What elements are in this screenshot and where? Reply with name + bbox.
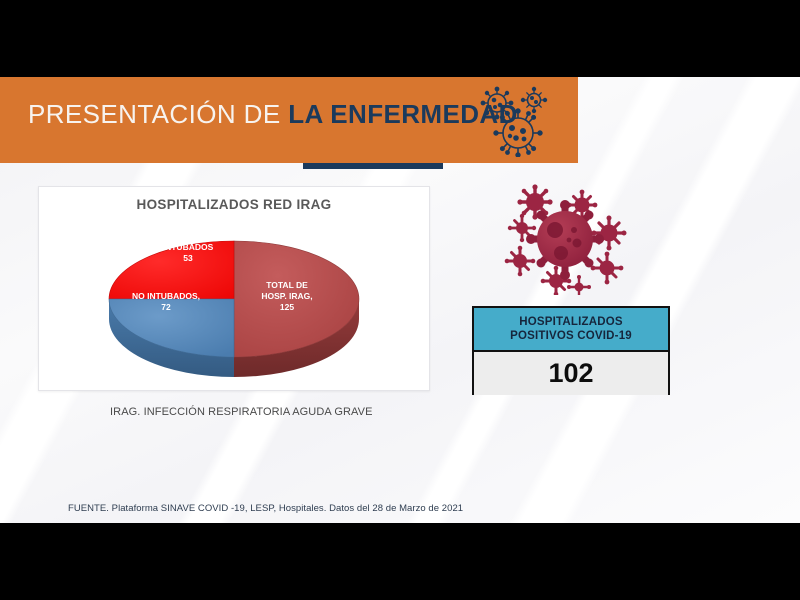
letterbox-top — [0, 0, 800, 77]
header-accent-underline — [303, 163, 443, 169]
pie-slice-intubados — [109, 241, 234, 299]
stat-box-header: HOSPITALIZADOS POSITIVOS COVID-19 — [474, 308, 668, 352]
covid-virus-cluster-illustration — [503, 183, 627, 295]
header-banner: PRESENTACIÓN DE LA ENFERMEDAD — [0, 77, 578, 163]
virus-satellite — [505, 246, 536, 277]
virus-cluster-icon — [476, 85, 572, 157]
virus-satellite — [592, 216, 627, 251]
presentation-slide: PRESENTACIÓN DE LA ENFERMEDAD — [0, 77, 800, 523]
slide-screen: PRESENTACIÓN DE LA ENFERMEDAD — [0, 0, 800, 600]
chart-caption: IRAG. INFECCIÓN RESPIRATORIA AGUDA GRAVE — [110, 406, 373, 418]
page-title-normal: PRESENTACIÓN DE — [28, 99, 288, 129]
letterbox-bottom — [0, 523, 800, 600]
status-badge-hospitalizados-positivos: HOSPITALIZADOS POSITIVOS COVID-19 102 — [472, 306, 670, 395]
source-note: FUENTE. Plataforma SINAVE COVID -19, LES… — [68, 503, 463, 514]
virus-satellite — [567, 275, 591, 295]
stat-box-value: 102 — [474, 352, 668, 395]
pie-chart: TOTAL DE HOSP. IRAG, 125 INTUBADOS 53 NO… — [89, 225, 379, 383]
virus-satellite — [591, 252, 624, 285]
stat-box-header-line1: HOSPITALIZADOS — [519, 315, 623, 329]
stat-box-header-line2: POSITIVOS COVID-19 — [510, 329, 632, 343]
page-title: PRESENTACIÓN DE LA ENFERMEDAD — [28, 99, 518, 130]
chart-title: HOSPITALIZADOS RED IRAG — [39, 197, 429, 212]
chart-card: HOSPITALIZADOS RED IRAG — [38, 186, 430, 391]
